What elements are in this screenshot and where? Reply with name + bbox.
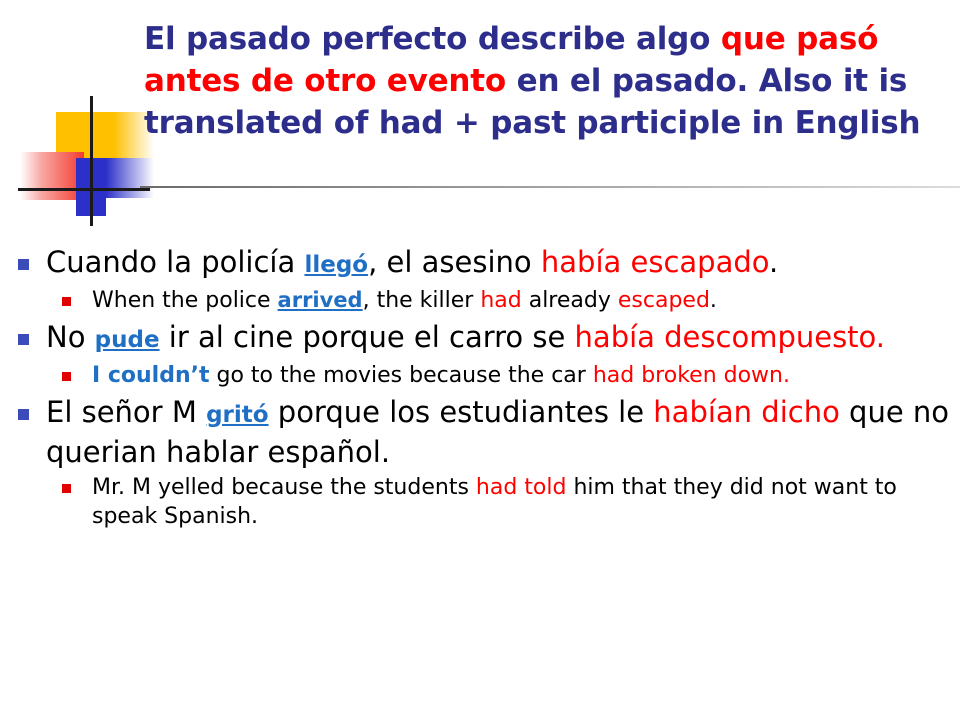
bullet-1-run-4: already (522, 288, 618, 313)
bullet-0-run-4: . (769, 245, 778, 279)
bullet-2-run-1: pude (95, 327, 160, 353)
sub-bullet-item: Mr. M yelled because the students had to… (0, 473, 960, 531)
bullet-0-run-3: había escapado (541, 245, 769, 279)
bullet-0-run-0: Cuando la policía (46, 245, 304, 279)
bullet-1-run-0: When the police (92, 288, 278, 313)
slide-title-run-0: El pasado perfecto describe algo (144, 21, 721, 57)
title-divider-rule (140, 186, 960, 188)
bullet-3-run-1: go to the movies because the car (210, 363, 593, 388)
logo-horizontal-rule (18, 188, 150, 191)
bullet-1-run-2: , the killer (363, 288, 481, 313)
bullet-5-run-1: had told (476, 475, 567, 500)
logo-red-gradient-bar (20, 152, 84, 200)
bullet-item: No pude ir al cine porque el carro se ha… (0, 319, 960, 359)
slide-title: El pasado perfecto describe algo que pas… (144, 18, 944, 144)
bullet-1-run-5: escaped (618, 288, 710, 313)
bullet-0-run-1: llegó (304, 252, 368, 278)
bullet-1-run-3: had (480, 288, 521, 313)
bullet-2-run-2: ir al cine porque el carro se (160, 320, 575, 354)
bullet-text: When the police arrived, the killer had … (92, 288, 717, 313)
bullet-text: Mr. M yelled because the students had to… (92, 475, 897, 529)
bullet-item: Cuando la policía llegó, el asesino habí… (0, 244, 960, 284)
slide-canvas: El pasado perfecto describe algo que pas… (0, 0, 960, 720)
sub-bullet-item: I couldn’t go to the movies because the … (0, 361, 960, 390)
bullet-0-run-2: , el asesino (368, 245, 541, 279)
logo-vertical-rule (90, 96, 93, 226)
bullet-square-icon (18, 259, 29, 270)
bullet-item: El señor M gritó porque los estudiantes … (0, 394, 960, 471)
sub-bullet-square-icon (62, 372, 71, 381)
template-logo-graphic (18, 96, 150, 226)
bullet-list: Cuando la policía llegó, el asesino habí… (0, 244, 960, 535)
bullet-square-icon (18, 409, 29, 420)
bullet-4-run-3: habían dicho (653, 395, 840, 429)
sub-bullet-square-icon (62, 484, 71, 493)
bullet-4-run-1: gritó (206, 402, 269, 428)
bullet-square-icon (18, 334, 29, 345)
bullet-text: El señor M gritó porque los estudiantes … (46, 395, 949, 469)
sub-bullet-square-icon (62, 297, 71, 306)
bullet-text: I couldn’t go to the movies because the … (92, 363, 790, 388)
bullet-text: No pude ir al cine porque el carro se ha… (46, 320, 885, 354)
bullet-5-run-0: Mr. M yelled because the students (92, 475, 476, 500)
bullet-2-run-0: No (46, 320, 95, 354)
logo-blue-gradient-bar (106, 158, 154, 198)
bullet-4-run-2: porque los estudiantes le (269, 395, 654, 429)
sub-bullet-item: When the police arrived, the killer had … (0, 286, 960, 315)
bullet-2-run-3: había descompuesto. (575, 320, 885, 354)
bullet-3-run-2: had broken down. (593, 363, 790, 388)
bullet-4-run-0: El señor M (46, 395, 206, 429)
bullet-text: Cuando la policía llegó, el asesino habí… (46, 245, 778, 279)
bullet-1-run-6: . (710, 288, 717, 313)
bullet-1-run-1: arrived (278, 288, 363, 312)
bullet-3-run-0: I couldn’t (92, 363, 210, 388)
